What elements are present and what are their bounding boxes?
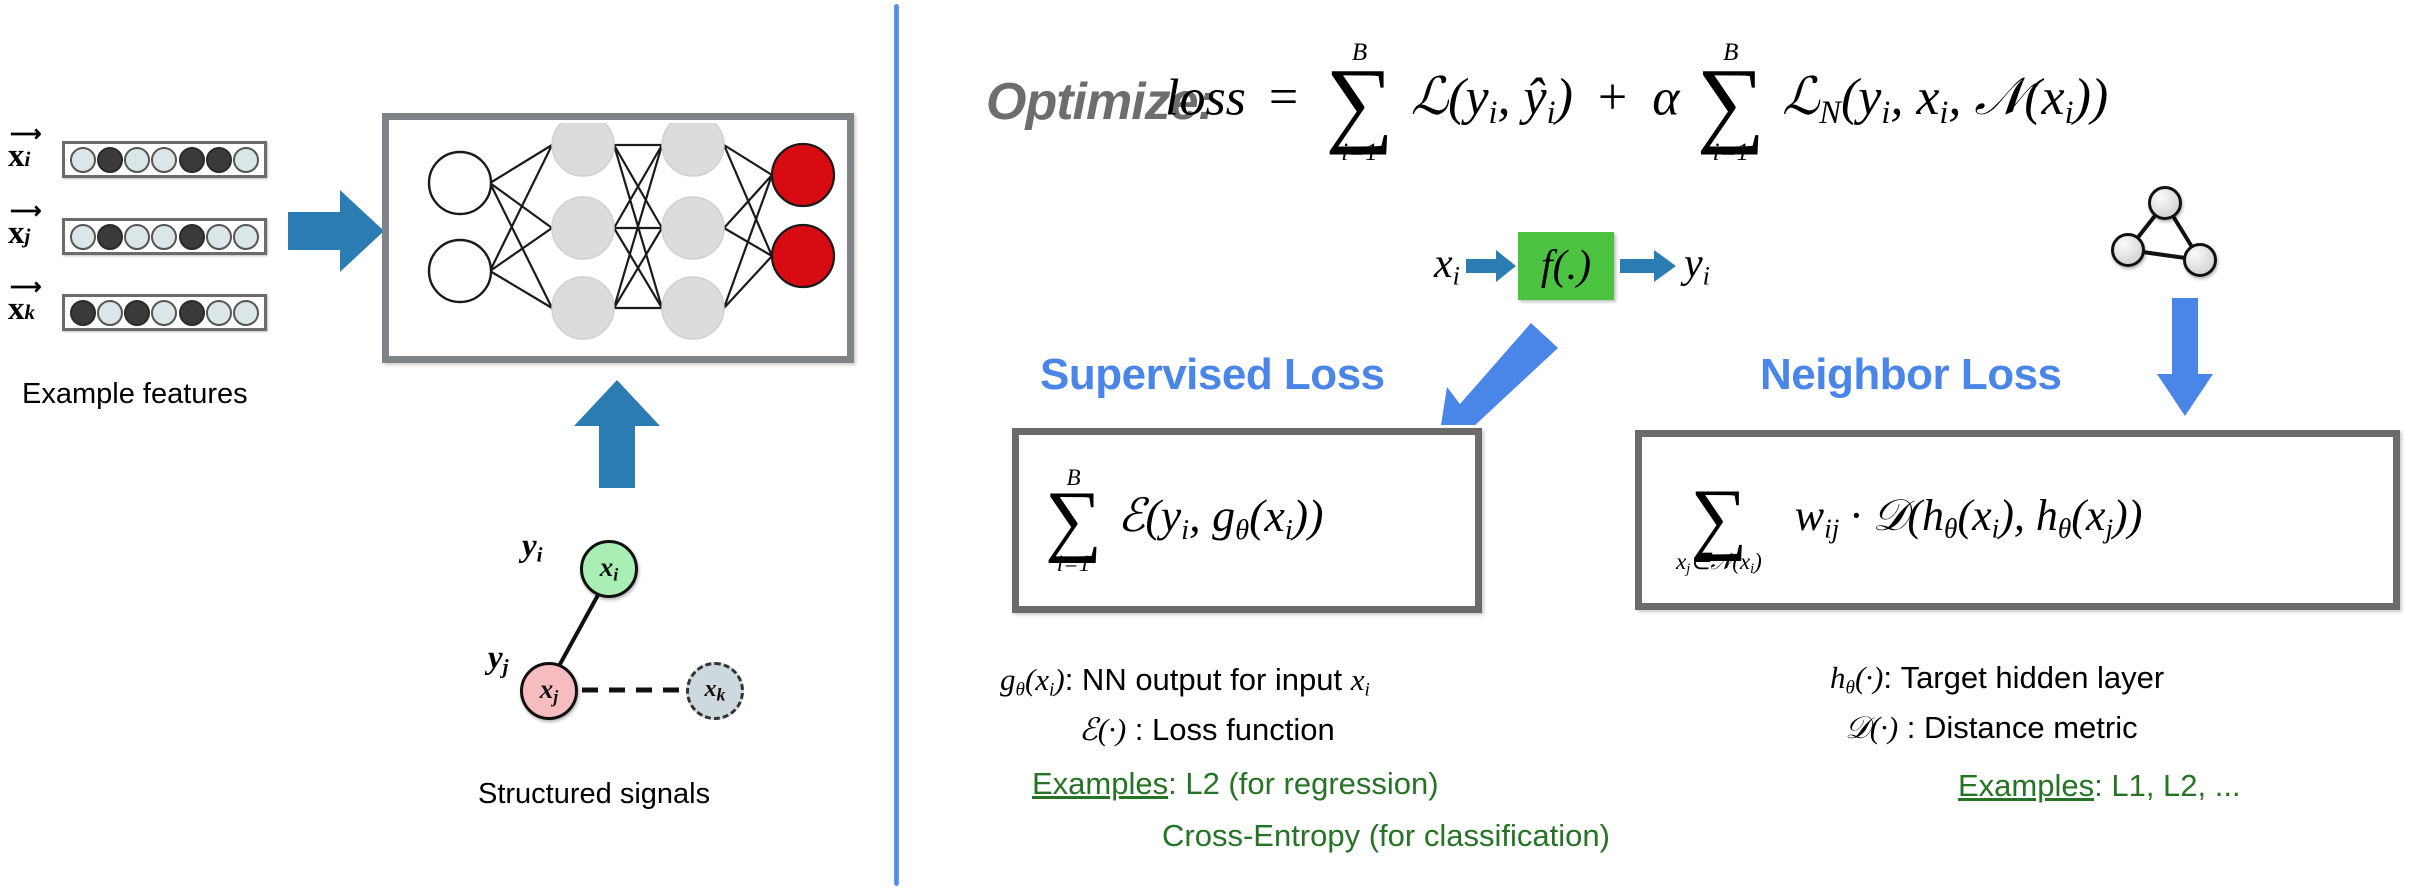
nn-hidden-node	[552, 123, 614, 176]
equals-sign: =	[1259, 69, 1308, 126]
neural-network-diagram	[392, 123, 844, 353]
supervised-loss-formula: B ∑ i=1 ℰ(yi, gθ(xi))	[1019, 466, 1323, 574]
feature-dot	[233, 224, 259, 250]
feature-dot	[233, 300, 259, 326]
supervised-examples-line-2: Cross-Entropy (for classification)	[1162, 818, 1610, 854]
flow-output-label: yi	[1684, 240, 1710, 291]
neighbor-loss-arrow-icon	[2155, 298, 2215, 418]
sigma-glyph: ∑	[1325, 65, 1393, 140]
summation-2: B ∑ i=1	[1697, 40, 1765, 165]
graph-label-yi-sub: i	[537, 542, 543, 566]
vector-sub-j: j	[25, 224, 31, 248]
loss-term-1: ℒ(yi, ŷi)	[1411, 69, 1573, 126]
supervised-loss-formula-box: B ∑ i=1 ℰ(yi, gθ(xi))	[1012, 428, 1482, 613]
supervised-summation: B ∑ i=1	[1045, 466, 1102, 574]
feature-dot	[70, 224, 96, 250]
feature-vector-label-k: ⟶ xk	[8, 281, 42, 326]
feature-dot	[124, 300, 150, 326]
loss-term-2: ℒN(yi, xi, 𝒩(xi))	[1782, 69, 2108, 126]
feature-dot	[97, 300, 123, 326]
nn-hidden-node	[662, 197, 724, 259]
neighbor-graph-icon	[2108, 178, 2228, 288]
flow-arrow-out-icon	[1620, 248, 1678, 284]
graph-node-xj-text: x	[540, 674, 554, 704]
feature-dot	[206, 147, 232, 173]
nn-output-node	[772, 225, 834, 287]
feature-dot	[179, 147, 205, 173]
neighbor-loss-title: Neighbor Loss	[1760, 350, 2062, 400]
feature-dot	[206, 300, 232, 326]
feature-dot	[124, 224, 150, 250]
feature-dot	[97, 147, 123, 173]
example-features-caption: Example features	[22, 378, 248, 411]
feature-dot	[124, 147, 150, 173]
neighbor-legend-line-1: hθ(·): Target hidden layer	[1830, 660, 2164, 699]
supervised-legend-line-1: gθ(xi): NN output for input xi	[1000, 662, 1370, 701]
graph-icon-node	[2111, 233, 2145, 267]
nn-input-node	[429, 152, 491, 214]
graph-label-yi-text: y	[522, 528, 537, 564]
plus-sign: +	[1586, 69, 1639, 126]
supervised-loss-arrow-icon	[1425, 295, 1605, 425]
feature-dot	[179, 300, 205, 326]
structured-signals-caption: Structured signals	[478, 778, 710, 811]
feature-vector-row-k	[62, 294, 267, 331]
sigma-glyph: ∑	[1697, 65, 1765, 140]
supervised-examples-value-1: : L2 (for regression)	[1168, 766, 1439, 801]
nn-input-node	[429, 240, 491, 302]
feature-dot	[151, 300, 177, 326]
graph-node-xj: xj	[520, 662, 578, 720]
feature-dot	[206, 224, 232, 250]
feature-vector-row-j	[62, 218, 267, 255]
vector-base-k: x	[8, 291, 25, 327]
alpha-symbol: α	[1652, 69, 1679, 126]
sup-sum-lower: i=1	[1057, 552, 1090, 575]
feature-vector-label-j: ⟶ xj	[8, 205, 42, 250]
sigma-glyph: ∑	[1690, 487, 1747, 549]
graph-node-xk-sub: k	[717, 685, 726, 705]
neighbor-examples-value: : L1, L2, ...	[2094, 768, 2240, 803]
loss-lhs: loss	[1165, 69, 1246, 126]
supervised-legend-line-2: ℰ(·) : Loss function	[1079, 712, 1335, 748]
graph-label-yj-sub: j	[503, 654, 509, 678]
vector-base-j: x	[8, 215, 25, 251]
neighbor-sum-lower: xj∈𝒩(xi)	[1676, 550, 1762, 576]
graph-icon-node	[2148, 186, 2182, 220]
feature-dot	[151, 224, 177, 250]
vector-sub-i: i	[25, 147, 31, 171]
neighbor-summation: . ∑ xj∈𝒩(xi)	[1676, 464, 1762, 576]
nn-hidden-node	[552, 197, 614, 259]
vector-base-i: x	[8, 138, 25, 174]
graph-node-xj-sub: j	[553, 687, 558, 707]
neighbor-examples-label: Examples	[1958, 768, 2094, 803]
function-box: f(.)	[1518, 232, 1614, 300]
feature-dot	[151, 147, 177, 173]
supervised-formula-body: ℰ(yi, gθ(xi))	[1118, 490, 1324, 541]
neighbor-examples-line: Examples: L1, L2, ...	[1958, 768, 2241, 804]
graph-label-yj-text: y	[488, 640, 503, 676]
nn-hidden-node	[552, 277, 614, 339]
sum2-lower: i=1	[1713, 140, 1749, 165]
summation-1: B ∑ i=1	[1325, 40, 1393, 165]
graph-node-xi-text: x	[600, 552, 614, 582]
vector-sub-k: k	[25, 300, 36, 324]
feature-dot	[70, 300, 96, 326]
neighbor-legend-line-2: 𝒟(·) : Distance metric	[1845, 710, 2138, 747]
feature-dot	[179, 224, 205, 250]
signals-to-network-arrow-icon	[572, 380, 664, 490]
supervised-examples-label: Examples	[1032, 766, 1168, 801]
graph-label-yj: yj	[488, 640, 509, 679]
nn-output-node	[772, 144, 834, 206]
graph-icon-node	[2183, 243, 2217, 277]
neighbor-loss-formula-box: . ∑ xj∈𝒩(xi) wij · 𝒟(hθ(xi), hθ(xj))	[1635, 430, 2400, 610]
flow-input-label: xi	[1434, 240, 1460, 291]
supervised-examples-line-1: Examples: L2 (for regression)	[1032, 766, 1439, 802]
nn-hidden-node	[662, 277, 724, 339]
supervised-loss-title: Supervised Loss	[1040, 350, 1385, 400]
nn-hidden-node	[662, 123, 724, 176]
main-loss-equation: loss = B ∑ i=1 ℒ(yi, ŷi) + α B ∑ i=1 ℒN(…	[1165, 40, 2108, 165]
feature-dot	[70, 147, 96, 173]
graph-node-xk: xk	[686, 662, 744, 720]
features-to-network-arrow-icon	[288, 186, 388, 276]
feature-vector-row-i	[62, 141, 267, 178]
graph-node-xi: xi	[580, 540, 638, 598]
panel-divider	[894, 4, 899, 886]
graph-node-xi-sub: i	[613, 565, 618, 585]
feature-dot	[97, 224, 123, 250]
neighbor-loss-formula: . ∑ xj∈𝒩(xi) wij · 𝒟(hθ(xi), hθ(xj))	[1642, 464, 2142, 576]
sigma-glyph: ∑	[1045, 489, 1102, 551]
graph-node-xk-text: x	[705, 676, 717, 702]
feature-vector-label-i: ⟶ xi	[8, 128, 42, 173]
neighbor-formula-body: wij · 𝒟(hθ(xi), hθ(xj))	[1795, 491, 2143, 540]
feature-dot	[233, 147, 259, 173]
graph-label-yi: yi	[522, 528, 543, 567]
flow-arrow-in-icon	[1466, 248, 1518, 284]
sum1-lower: i=1	[1341, 140, 1377, 165]
